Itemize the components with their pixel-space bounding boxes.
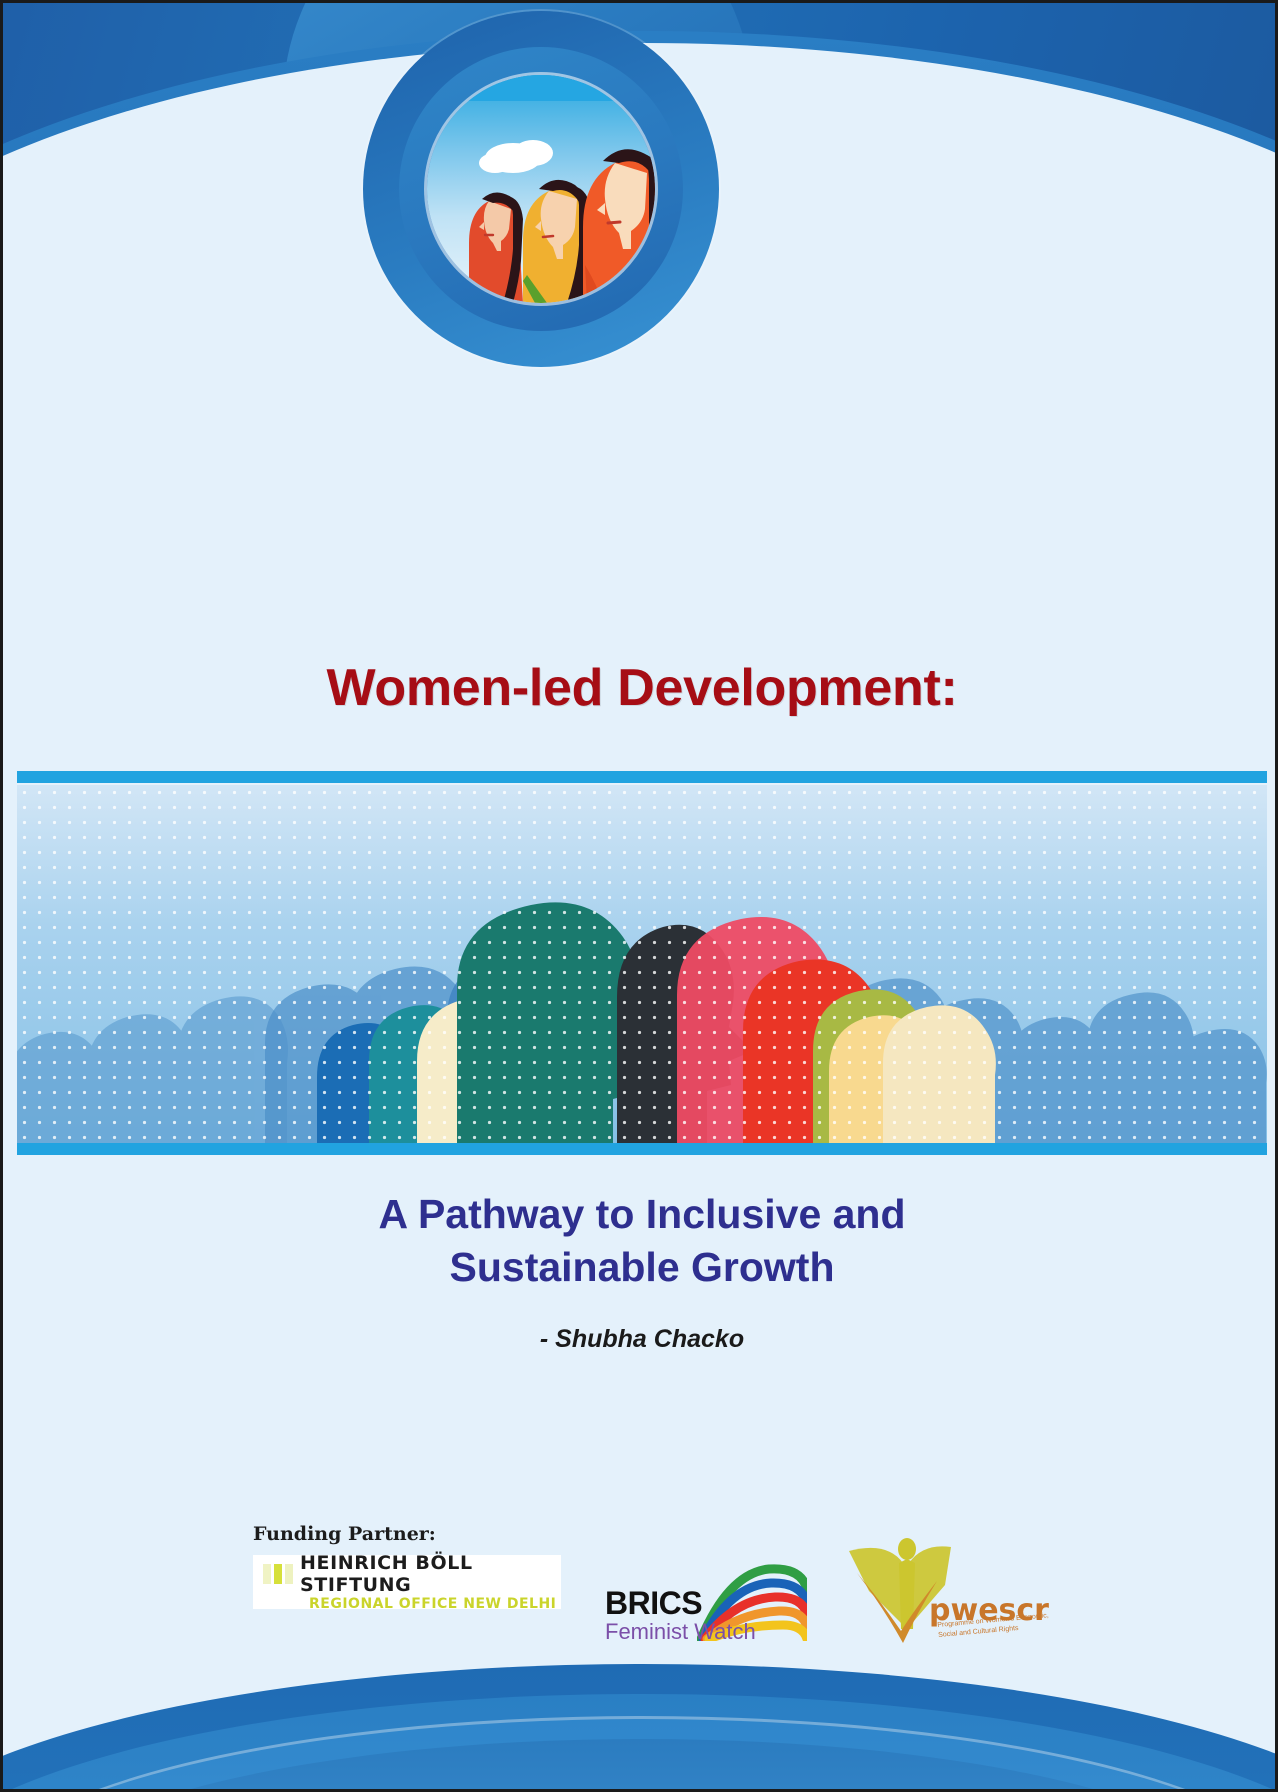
cover-page: Women-led Development: <box>0 0 1278 1792</box>
banner-top-rule <box>17 771 1267 783</box>
header-photo-circle <box>427 75 655 303</box>
banner-bottom-rule <box>17 1143 1267 1155</box>
subtitle-block: A Pathway to Inclusive and Sustainable G… <box>3 1188 1278 1354</box>
author-name: - Shubha Chacko <box>3 1325 1278 1354</box>
header-graphic <box>3 3 1278 473</box>
page-title: Women-led Development: <box>3 658 1278 718</box>
funding-partner-label: Funding Partner: <box>253 1523 436 1545</box>
hbs-bars-icon <box>263 1564 293 1584</box>
footer-graphic <box>3 1609 1278 1789</box>
subtitle-line-1: A Pathway to Inclusive and <box>3 1188 1278 1241</box>
title-block: Women-led Development: <box>3 658 1278 718</box>
banner-silhouettes <box>17 785 1267 1143</box>
three-women-illustration-icon <box>427 75 655 303</box>
subtitle-line-2: Sustainable Growth <box>3 1241 1278 1294</box>
crowd-silhouette-icon <box>17 785 1267 1143</box>
hbs-logo-top: HEINRICH BÖLL STIFTUNG <box>253 1552 561 1596</box>
heinrich-boll-stiftung-logo[interactable]: HEINRICH BÖLL STIFTUNG REGIONAL OFFICE N… <box>253 1555 561 1609</box>
hbs-name-text: HEINRICH BÖLL STIFTUNG <box>300 1552 561 1596</box>
